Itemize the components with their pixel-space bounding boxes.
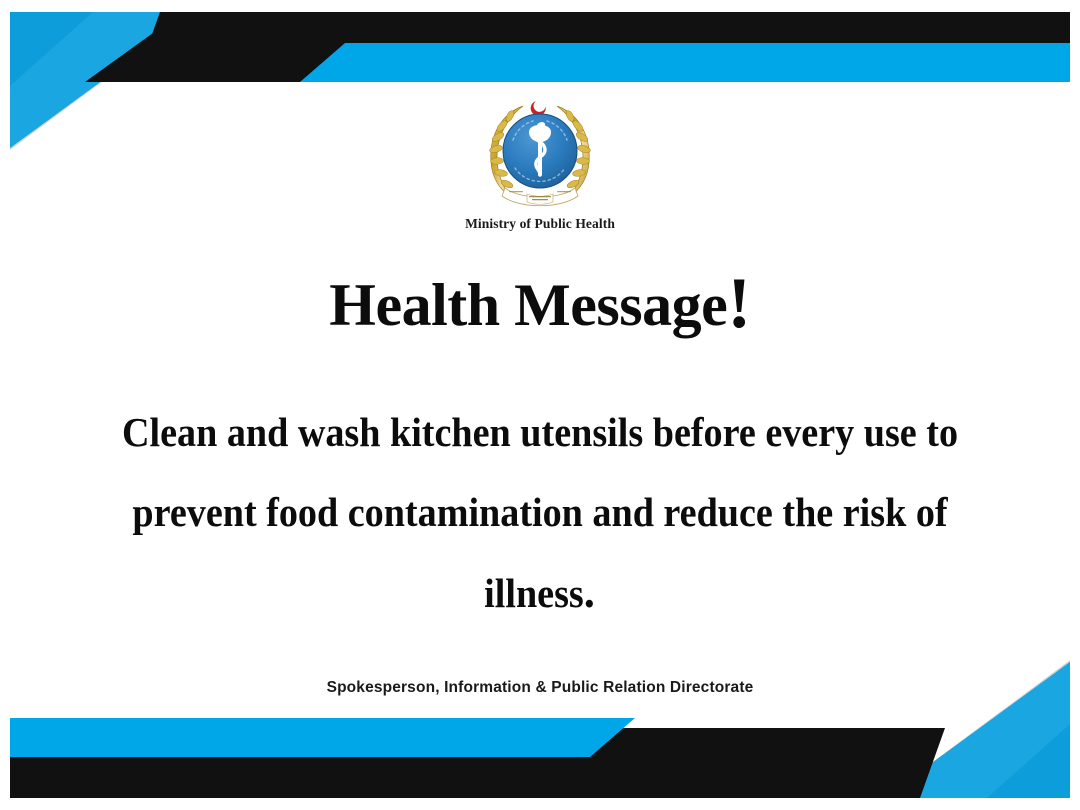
- page-title-text: Health Message: [329, 272, 727, 338]
- page-title: Health Message!: [0, 275, 1080, 335]
- health-message-body: Clean and wash kitchen utensils before e…: [122, 392, 959, 633]
- top-black-band: [85, 12, 1070, 82]
- message-line-3-text: illness: [484, 570, 584, 616]
- bottom-left-blue-band: [10, 718, 635, 757]
- red-crescent-icon: [531, 101, 546, 116]
- message-line-1: Clean and wash kitchen utensils before e…: [122, 392, 959, 472]
- message-line-2: prevent food contamination and reduce th…: [122, 472, 959, 552]
- message-line-3: illness.: [122, 552, 959, 633]
- ministry-emblem-icon: [475, 92, 605, 214]
- top-right-blue-band: [300, 43, 1070, 82]
- emblem-ribbon: [502, 188, 578, 206]
- message-terminator: .: [584, 565, 596, 618]
- page-title-exclamation: !: [727, 263, 750, 343]
- top-right-blue-band-main: [300, 43, 1070, 82]
- top-black-band-fill: [135, 12, 1070, 82]
- bottom-black-band: [10, 728, 945, 798]
- emblem-caption: Ministry of Public Health: [0, 216, 1080, 232]
- emblem-block: Ministry of Public Health: [0, 92, 1080, 232]
- health-message-poster: Ministry of Public Health Health Message…: [0, 0, 1080, 810]
- footer-attribution: Spokesperson, Information & Public Relat…: [0, 679, 1080, 697]
